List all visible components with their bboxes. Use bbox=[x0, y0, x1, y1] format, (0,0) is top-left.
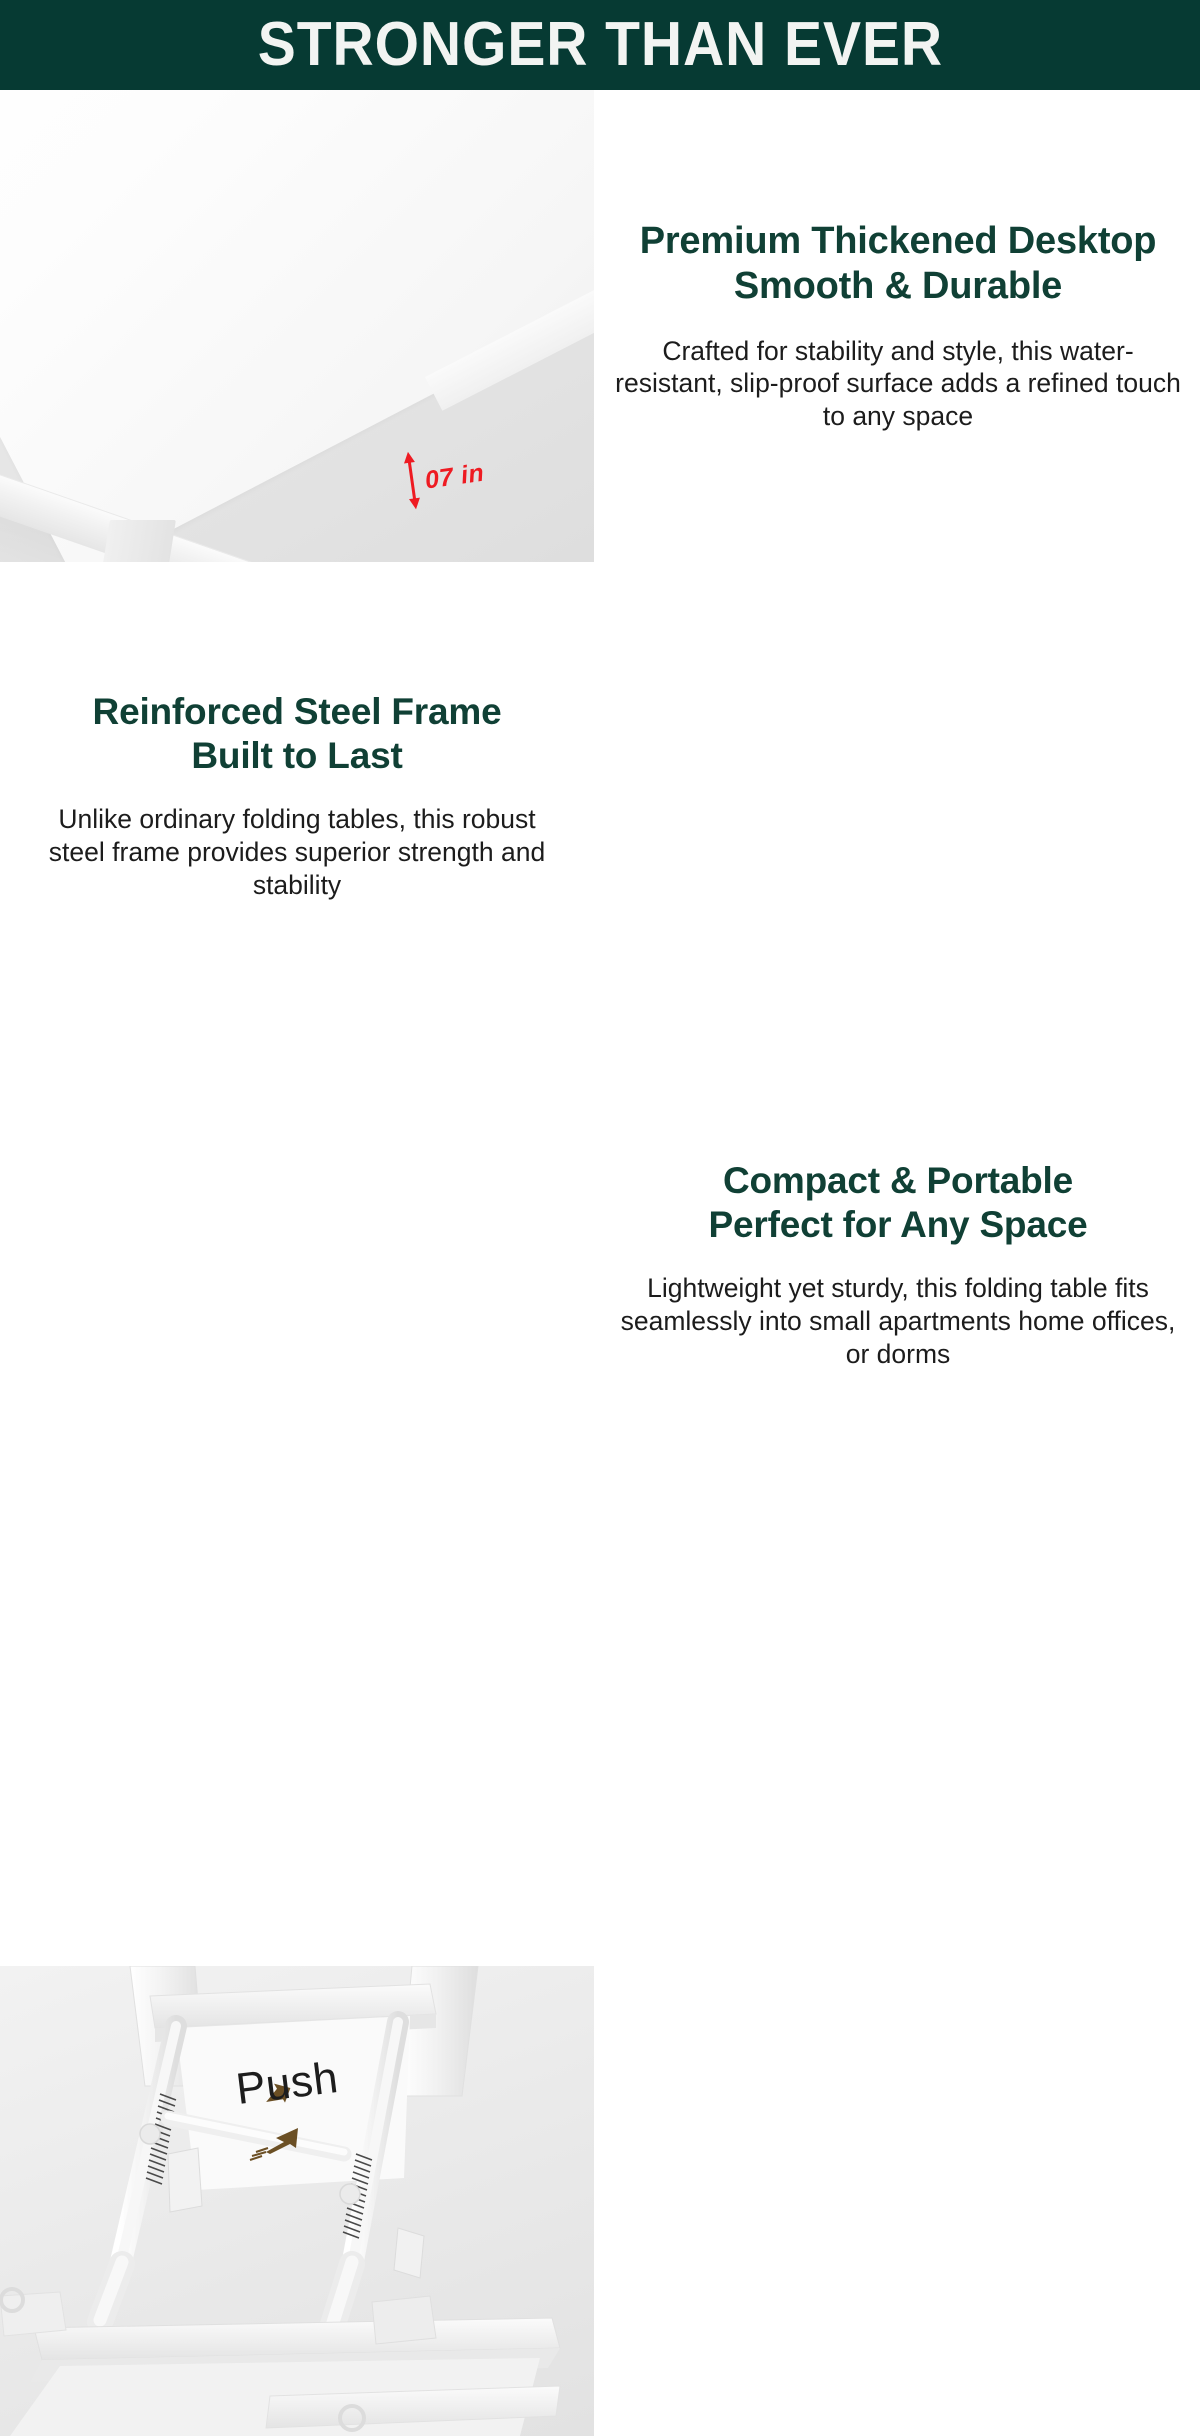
feature-body: Unlike ordinary folding tables, this rob… bbox=[42, 803, 552, 902]
arrow-up-right-icon bbox=[246, 2126, 300, 2166]
feature-grid: 07 in Premium Thickened Desktop Smooth &… bbox=[0, 90, 1200, 1500]
headline-line-1: Reinforced Steel Frame bbox=[93, 690, 502, 734]
header-banner: STRONGER THAN EVER bbox=[0, 0, 1200, 90]
double-arrow-vertical-icon bbox=[401, 451, 424, 515]
thickness-annotation: 07 in bbox=[401, 442, 488, 515]
push-mechanism-illustration bbox=[0, 1966, 594, 2436]
headline-line-2: Smooth & Durable bbox=[640, 264, 1157, 309]
feature-text-premium-desktop: Premium Thickened Desktop Smooth & Durab… bbox=[596, 90, 1200, 562]
headline-line-1: Premium Thickened Desktop bbox=[640, 219, 1157, 264]
headline-line-2: Perfect for Any Space bbox=[709, 1203, 1088, 1247]
feature-headline: Reinforced Steel Frame Built to Last bbox=[93, 690, 502, 777]
page-title: STRONGER THAN EVER bbox=[257, 14, 942, 76]
headline-line-2: Built to Last bbox=[93, 734, 502, 778]
feature-body: Crafted for stability and style, this wa… bbox=[614, 335, 1182, 434]
feature-text-compact-portable: Compact & Portable Perfect for Any Space… bbox=[596, 1030, 1200, 1500]
desktop-top-surface bbox=[0, 90, 594, 562]
thickness-label: 07 in bbox=[423, 461, 485, 494]
feature-headline: Premium Thickened Desktop Smooth & Durab… bbox=[640, 219, 1157, 309]
feature-image-compact-portable: Push bbox=[0, 1966, 594, 2436]
feature-text-steel-frame: Reinforced Steel Frame Built to Last Unl… bbox=[0, 564, 594, 1028]
feature-body: Lightweight yet sturdy, this folding tab… bbox=[614, 1272, 1182, 1371]
feature-headline: Compact & Portable Perfect for Any Space bbox=[709, 1159, 1088, 1246]
headline-line-1: Compact & Portable bbox=[709, 1159, 1088, 1203]
feature-image-premium-desktop: 07 in bbox=[0, 90, 594, 562]
